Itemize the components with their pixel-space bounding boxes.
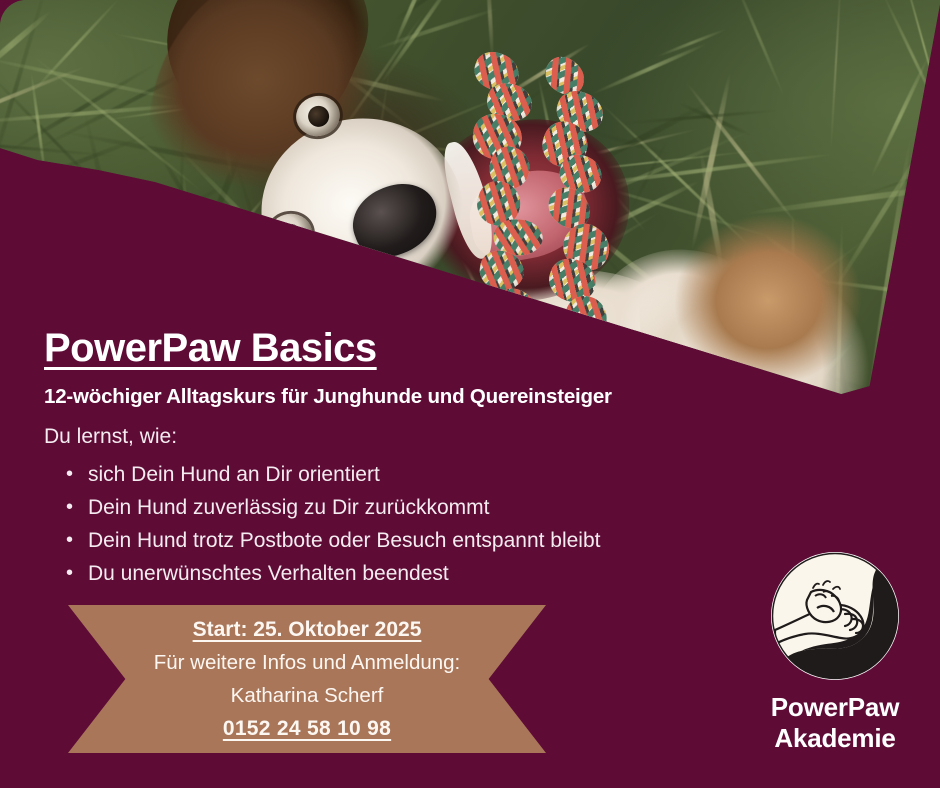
brand-name: PowerPaw Akademie: [740, 692, 930, 754]
page-title: PowerPaw Basics: [44, 326, 377, 371]
contact-phone: 0152 24 58 10 98: [223, 714, 391, 744]
flyer-canvas: PowerPaw Basics 12-wöchiger Alltagskurs …: [0, 0, 940, 788]
learning-list: sich Dein Hund an Dir orientiert Dein Hu…: [64, 458, 601, 590]
contact-name: Katharina Scherf: [231, 681, 384, 711]
contact-ribbon: Start: 25. Oktober 2025 Für weitere Info…: [68, 605, 546, 753]
signup-info-label: Für weitere Infos und Anmeldung:: [154, 648, 461, 678]
list-item: Du unerwünschtes Verhalten beendest: [64, 557, 601, 590]
brand-name-line2: Akademie: [740, 723, 930, 754]
brand-name-line1: PowerPaw: [740, 692, 930, 723]
list-item: sich Dein Hund an Dir orientiert: [64, 458, 601, 491]
list-item: Dein Hund zuverlässig zu Dir zurückkommt: [64, 491, 601, 524]
list-item: Dein Hund trotz Postbote oder Besuch ent…: [64, 524, 601, 557]
page-subtitle: 12-wöchiger Alltagskurs für Junghunde un…: [44, 385, 612, 409]
yin-yang-hand-paw-icon: [771, 552, 899, 680]
learning-list-intro: Du lernst, wie:: [44, 425, 177, 449]
course-start-date: Start: 25. Oktober 2025: [193, 615, 422, 645]
brand-logo: PowerPaw Akademie: [740, 552, 930, 754]
